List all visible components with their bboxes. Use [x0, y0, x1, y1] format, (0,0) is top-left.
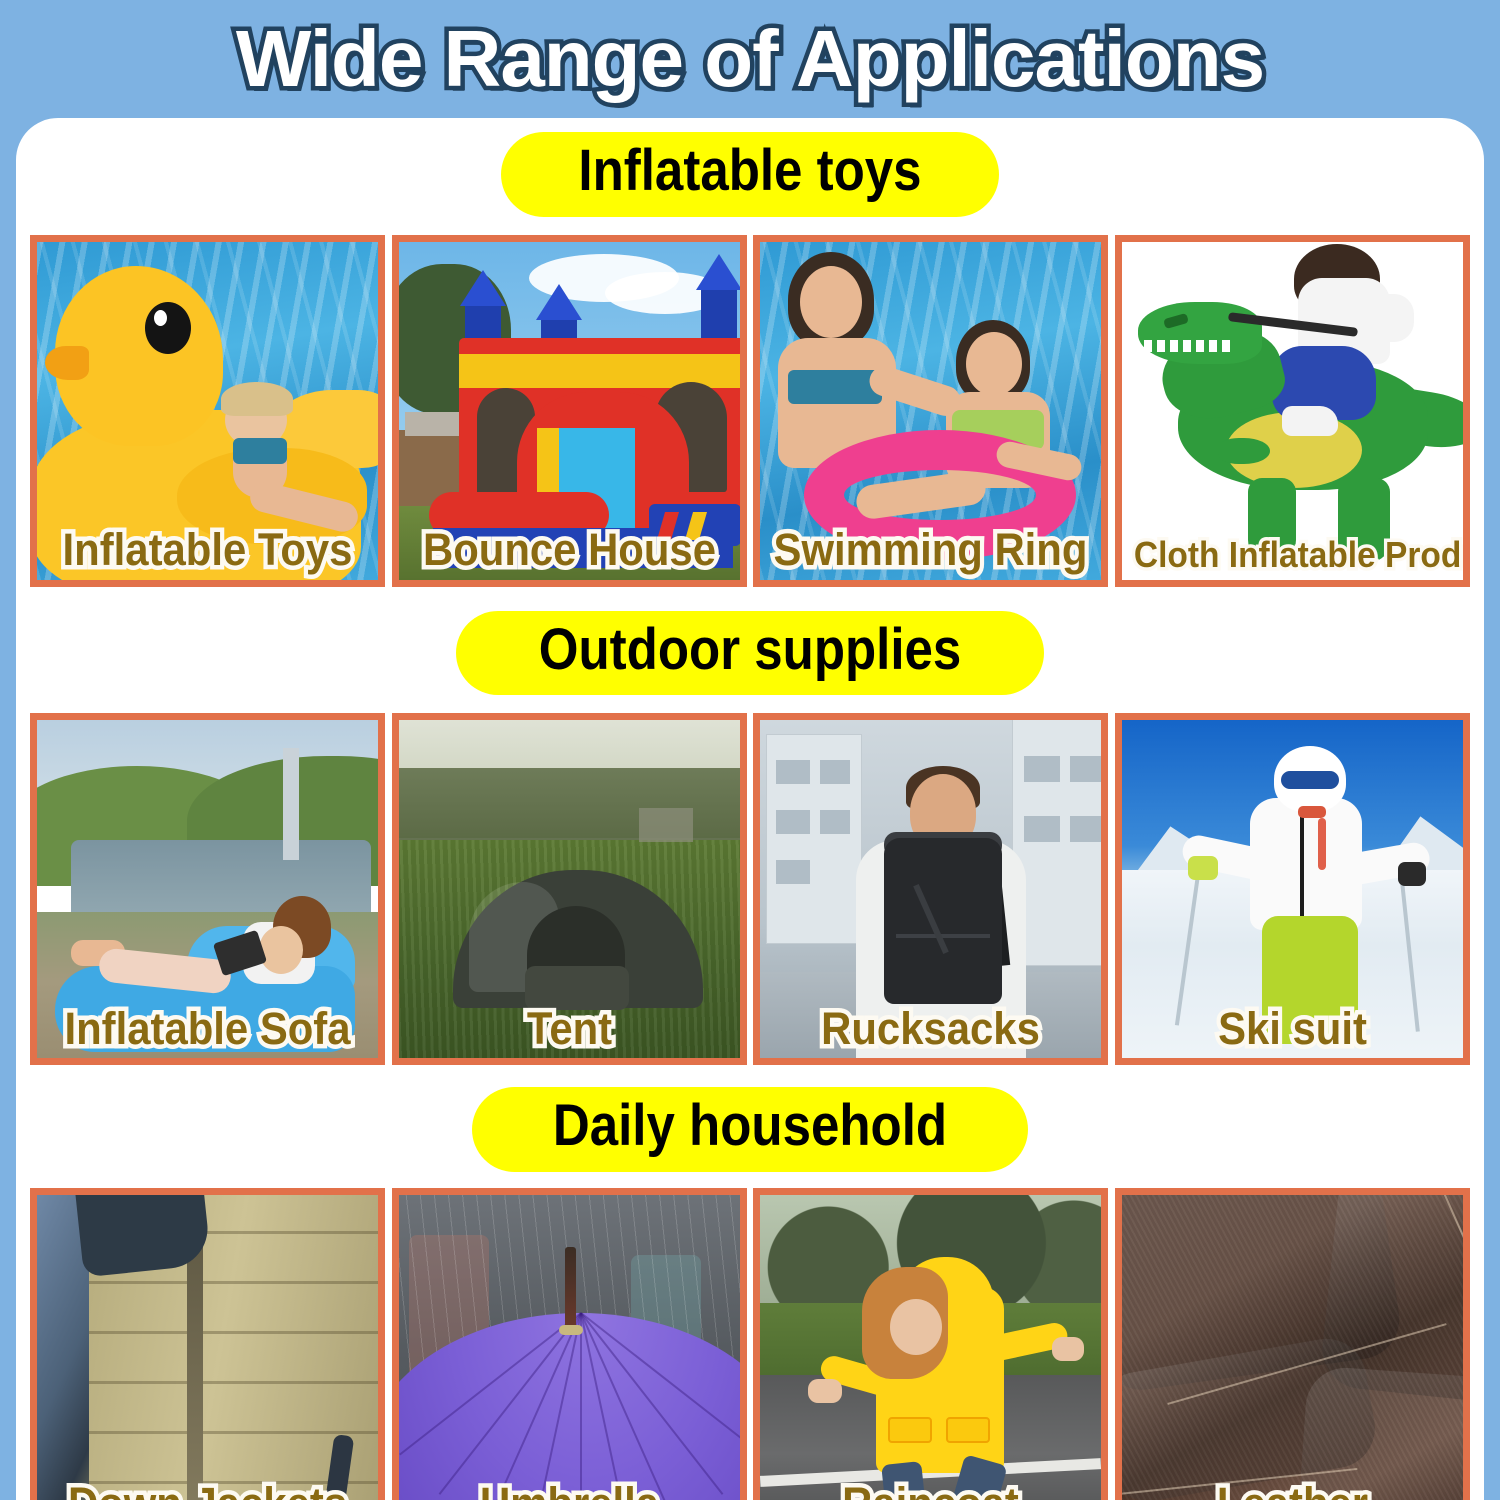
card-bounce-house[interactable]: Bounce House [392, 235, 747, 587]
inflatable-dinosaur-costume-photo [1122, 242, 1463, 580]
badge-pill: Daily household [472, 1087, 1028, 1172]
card-label: Tent [411, 1005, 728, 1052]
badge-label: Daily household [553, 1093, 947, 1160]
page-title: Wide Range of Applications [236, 19, 1264, 99]
card-tent[interactable]: Tent [392, 713, 747, 1065]
card-label: Cloth Inflatable Products [1134, 536, 1451, 574]
card-label: Ski suit [1134, 1005, 1451, 1052]
card-inflatable-sofa[interactable]: Inflatable Sofa [30, 713, 385, 1065]
badge-label: Inflatable toys [578, 138, 921, 205]
card-leather[interactable]: Leather [1115, 1188, 1470, 1500]
card-raincoat[interactable]: Raincoat [753, 1188, 1108, 1500]
card-swimming-ring[interactable]: Swimming Ring [753, 235, 1108, 587]
card-rucksacks[interactable]: Rucksacks [753, 713, 1108, 1065]
card-umbrella[interactable]: Umbrella [392, 1188, 747, 1500]
card-label: Umbrella [411, 1480, 728, 1500]
card-label: Rucksacks [772, 1005, 1089, 1052]
section-badge-outdoor-supplies: Outdoor supplies [16, 611, 1484, 696]
child-raincoat-photo [760, 1195, 1101, 1500]
title-bar: Wide Range of Applications [0, 0, 1500, 118]
card-label: Inflatable Sofa [49, 1005, 366, 1052]
applications-infographic: Wide Range of Applications Inflatable to… [0, 0, 1500, 1500]
badge-pill: Outdoor supplies [456, 611, 1044, 696]
card-grid-outdoor-supplies: Inflatable Sofa Tent [16, 713, 1484, 1065]
badge-pill: Inflatable toys [501, 132, 999, 217]
card-down-jackets[interactable]: Down Jackets [30, 1188, 385, 1500]
purple-umbrella-rain-photo [399, 1195, 740, 1500]
card-grid-inflatable-toys: Inflatable Toys [16, 235, 1484, 587]
card-grid-daily-household: Down Jackets [16, 1188, 1484, 1500]
card-label: Bounce House [411, 526, 728, 573]
badge-label: Outdoor supplies [539, 617, 962, 684]
card-ski-suit[interactable]: Ski suit [1115, 713, 1470, 1065]
card-label: Down Jackets [49, 1480, 366, 1500]
down-jacket-photo [37, 1195, 378, 1500]
card-inflatable-toys[interactable]: Inflatable Toys [30, 235, 385, 587]
brown-leather-sofa-photo [1122, 1195, 1463, 1500]
card-label: Inflatable Toys [49, 526, 366, 573]
section-badge-inflatable-toys: Inflatable toys [16, 132, 1484, 217]
card-label: Raincoat [772, 1480, 1089, 1500]
card-label: Leather [1134, 1480, 1451, 1500]
content-panel: Inflatable toys [16, 118, 1484, 1500]
card-label: Swimming Ring [772, 526, 1089, 573]
section-badge-daily-household: Daily household [16, 1087, 1484, 1172]
card-cloth-inflatable-products[interactable]: Cloth Inflatable Products [1115, 235, 1470, 587]
